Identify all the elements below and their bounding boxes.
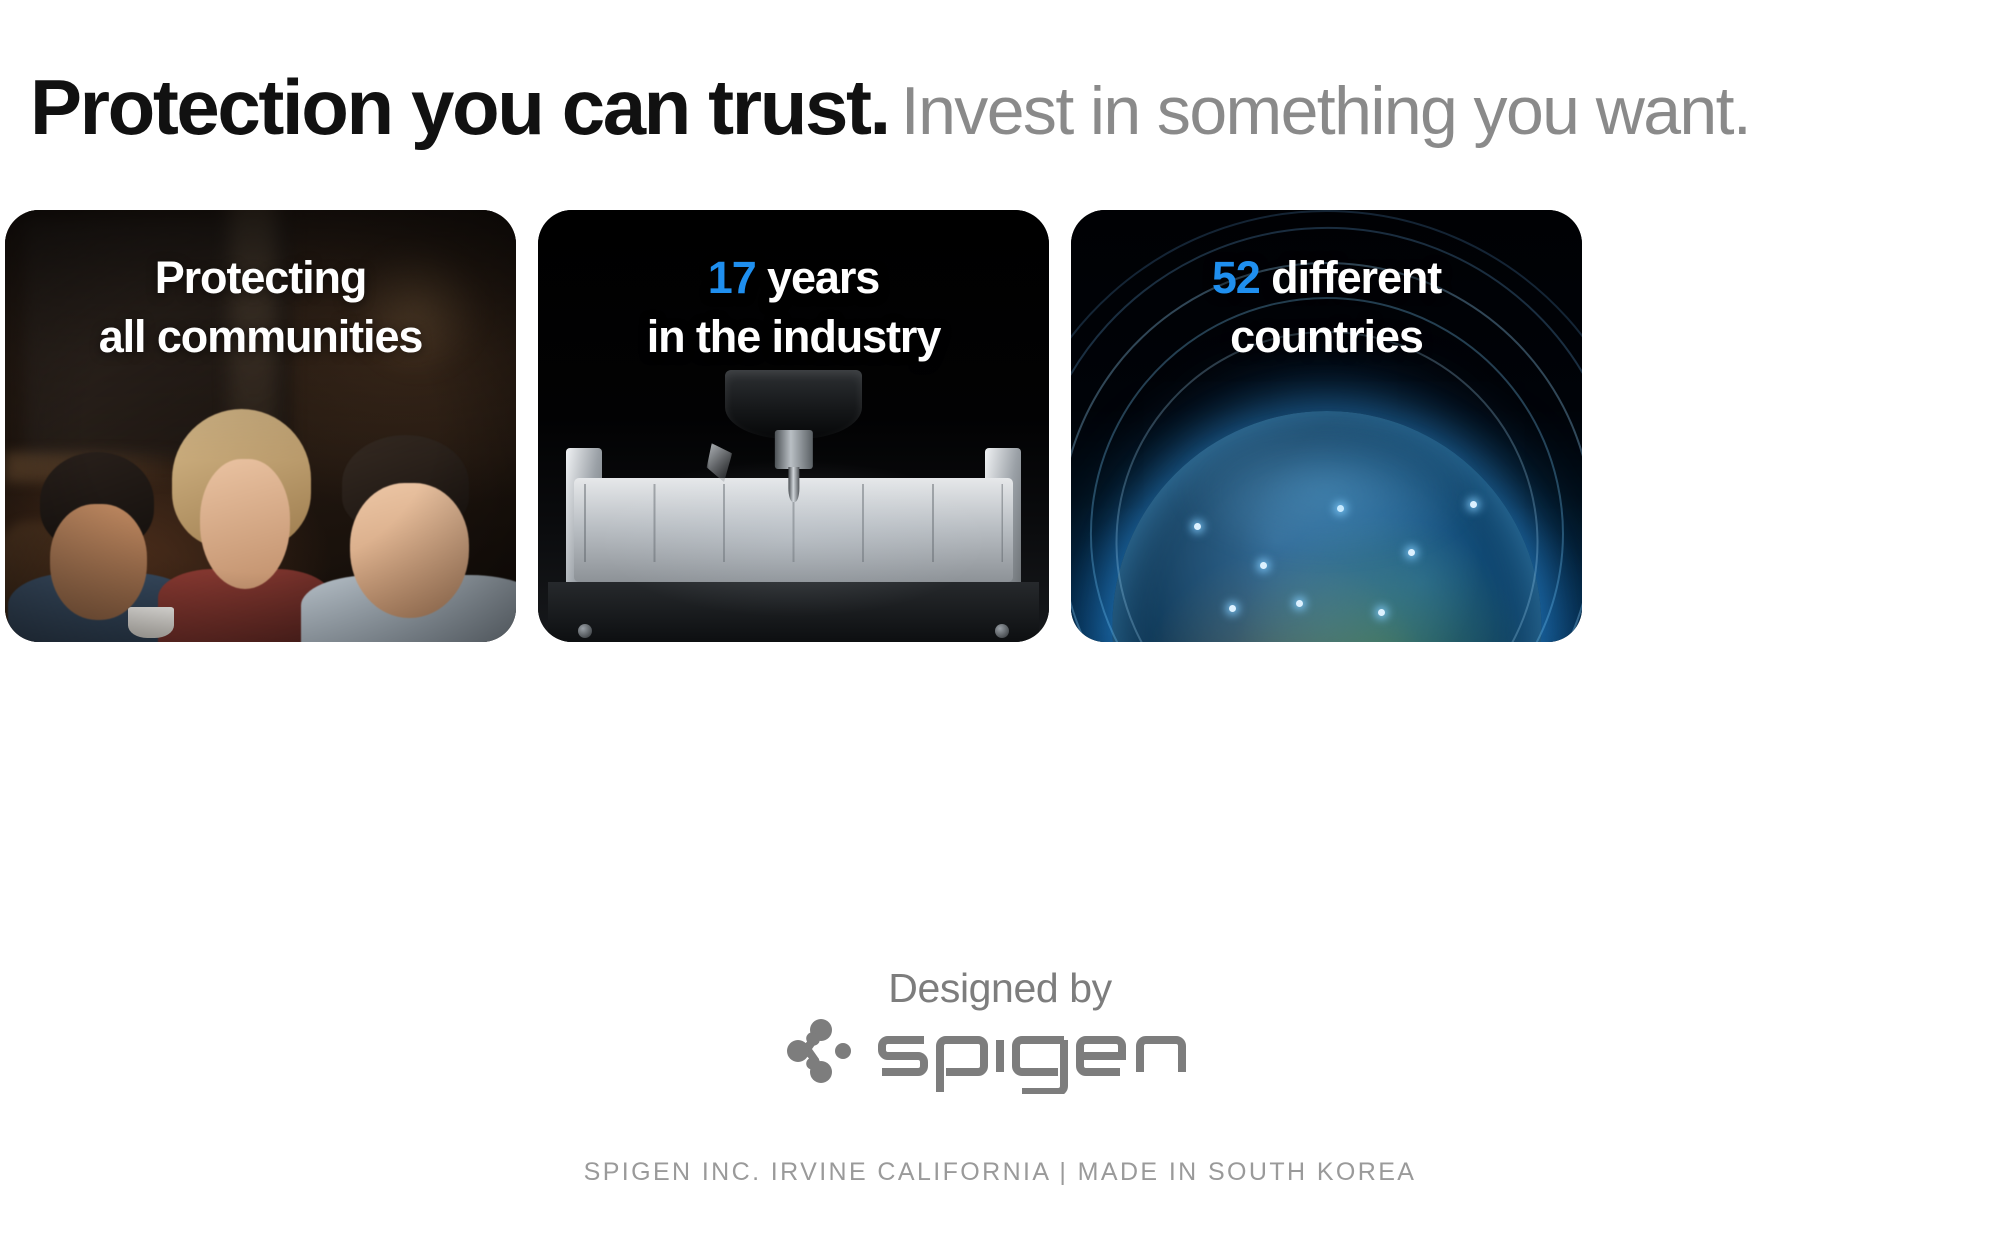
caption-line-2: countries (1071, 307, 1582, 366)
spigen-molecule-icon (786, 1015, 858, 1095)
stat-value-countries: 52 (1212, 252, 1260, 303)
headline-primary: Protection you can trust. (30, 63, 889, 151)
feature-card-reach[interactable]: 52 different countries (1071, 210, 1582, 642)
stat-value-years: 17 (708, 252, 756, 303)
feature-card-row: Protecting all communities 17 years in t… (5, 210, 1995, 642)
caption-line-2: all communities (5, 307, 516, 366)
network-node (1378, 609, 1385, 616)
headline-secondary: Invest in something you want. (901, 73, 1750, 149)
designed-by-label: Designed by (888, 968, 1112, 1009)
caption-line-1: Protecting (5, 248, 516, 307)
card-caption-community: Protecting all communities (5, 248, 516, 367)
caption-line-1: 17 years (538, 248, 1049, 307)
footer-legal-text: SPIGEN INC. IRVINE CALIFORNIA | MADE IN … (0, 1158, 2000, 1187)
feature-card-community[interactable]: Protecting all communities (5, 210, 516, 642)
card-caption-reach: 52 different countries (1071, 248, 1582, 367)
brand-logo-block: Designed by (0, 968, 2000, 1095)
globe-flare-overlay (1168, 417, 1485, 564)
spigen-logo-lockup (786, 1015, 1214, 1095)
page-headline: Protection you can trust.Invest in somet… (30, 68, 1750, 146)
feature-card-experience[interactable]: 17 years in the industry (538, 210, 1049, 642)
caption-line-1: 52 different (1071, 248, 1582, 307)
spigen-wordmark (874, 1016, 1214, 1094)
caption-line-2: in the industry (538, 307, 1049, 366)
card-caption-experience: 17 years in the industry (538, 248, 1049, 367)
caption-line-1-rest: different (1260, 252, 1442, 303)
caption-line-1-rest: years (756, 252, 880, 303)
